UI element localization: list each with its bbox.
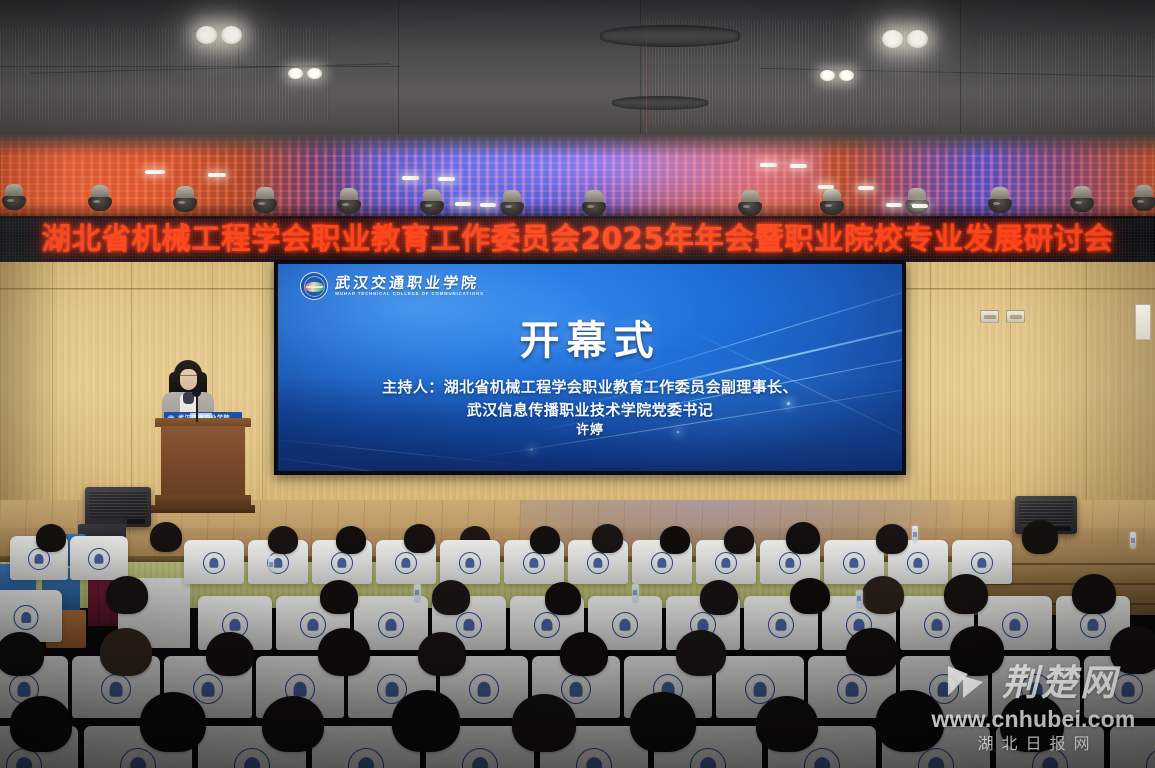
- audience-head: [512, 694, 576, 752]
- audience-head: [268, 526, 298, 554]
- audience-head: [432, 580, 470, 615]
- ceiling-strip-light: [402, 176, 419, 180]
- ceiling-downlight-3: [288, 68, 322, 79]
- audience-head: [724, 526, 754, 554]
- ceiling-strip-light: [480, 203, 496, 207]
- ceiling-ribbed-panel-left: [0, 28, 330, 122]
- college-logo: 武汉交通职业学院 WUHAN TECHNICAL COLLEGE OF COMM…: [300, 272, 484, 300]
- audience-head: [106, 576, 148, 614]
- college-name-cn: 武汉交通职业学院: [334, 276, 484, 292]
- water-bottle: [856, 590, 863, 609]
- wall-outlet: [980, 310, 999, 323]
- audience-head: [0, 632, 44, 676]
- projection-screen: 武汉交通职业学院 WUHAN TECHNICAL COLLEGE OF COMM…: [278, 264, 902, 471]
- ceiling-dome-speaker: [582, 190, 606, 216]
- ceiling-dome-speaker: [1132, 185, 1155, 211]
- projection-screen-frame: 武汉交通职业学院 WUHAN TECHNICAL COLLEGE OF COMM…: [274, 260, 906, 475]
- audience-head: [756, 696, 818, 752]
- audience-head: [676, 630, 726, 676]
- water-bottle: [268, 556, 274, 573]
- ceiling-dome-speaker: [905, 188, 929, 214]
- audience-head: [846, 628, 898, 676]
- ceiling-strip-light: [912, 204, 928, 208]
- ceiling-dome-speaker: [1070, 186, 1094, 212]
- ceiling-dome-speaker: [253, 187, 277, 213]
- audience-head: [950, 626, 1004, 676]
- ceiling-dome-speaker: [738, 190, 762, 216]
- ceiling-dome-speaker: [988, 187, 1012, 213]
- ceiling-seam-a: [0, 66, 400, 67]
- audience-head: [1022, 520, 1058, 554]
- slide-subtitle: 主持人：湖北省机械工程学会职业教育工作委员会副理事长、 武汉信息传播职业技术学院…: [278, 376, 902, 442]
- ceiling-ribbed-panel-right: [980, 34, 1155, 126]
- slide-subtitle-line-2: 武汉信息传播职业技术学院党委书记: [278, 399, 902, 422]
- conference-hall-photo: 湖北省机械工程学会职业教育工作委员会2025年年会暨职业院校专业发展研讨会: [0, 0, 1155, 768]
- audience-head: [392, 690, 460, 752]
- ceiling-strip-light: [886, 203, 902, 207]
- ceiling-strip-light: [438, 177, 455, 181]
- ceiling-dome-speaker: [420, 189, 444, 215]
- ceiling-downlight-2: [882, 30, 928, 48]
- water-bottle: [1130, 532, 1136, 549]
- audience-head: [630, 692, 696, 752]
- audience-head: [10, 696, 72, 752]
- audience-head: [660, 526, 690, 554]
- audience-head: [592, 524, 623, 553]
- ceiling-strip-light: [208, 173, 226, 177]
- water-bottle: [912, 526, 918, 543]
- audience-head: [530, 526, 560, 554]
- ceiling-vent-2: [612, 96, 708, 110]
- ceiling-dome-speaker: [173, 186, 197, 212]
- audience-head: [876, 524, 908, 554]
- audience-head: [944, 574, 988, 614]
- slide-subtitle-line-1: 主持人：湖北省机械工程学会职业教育工作委员会副理事长、: [278, 376, 902, 399]
- speaking-podium: 武汉交通职业学院: [155, 418, 251, 522]
- audience-head: [560, 632, 608, 676]
- audience-chair: [440, 540, 500, 584]
- stage-monitor-speaker: [85, 487, 151, 527]
- audience-head: [545, 582, 581, 615]
- ceiling-strip-light: [455, 202, 471, 206]
- ceiling-wire: [646, 0, 647, 150]
- water-bottle: [632, 584, 639, 603]
- wall-outlet: [1006, 310, 1025, 323]
- ceiling-dome-speaker: [500, 190, 524, 216]
- ceiling-dome-speaker: [337, 188, 361, 214]
- ceiling-strip-light: [818, 185, 834, 189]
- audience-head: [876, 690, 944, 752]
- audience-head: [36, 524, 66, 552]
- audience-head: [262, 696, 324, 752]
- audience-head: [786, 522, 820, 554]
- college-name-en: WUHAN TECHNICAL COLLEGE OF COMMUNICATION…: [335, 292, 484, 296]
- glasses-icon: [180, 375, 197, 379]
- led-banner: 湖北省机械工程学会职业教育工作委员会2025年年会暨职业院校专业发展研讨会: [0, 216, 1155, 264]
- audience-head: [700, 580, 738, 615]
- audience-head: [790, 578, 830, 614]
- slide-title: 开幕式: [278, 308, 902, 366]
- audience-head: [318, 628, 370, 676]
- audience-chair: [70, 536, 128, 580]
- college-seal-icon: [300, 272, 328, 300]
- ceiling-seam-g: [640, 0, 641, 150]
- audience-chair: [184, 540, 244, 584]
- audience-area: [0, 528, 1155, 768]
- audience-head: [140, 692, 206, 752]
- microphone-icon: [192, 388, 201, 397]
- ceiling-strip-light: [858, 186, 874, 190]
- audience-head: [1000, 694, 1064, 752]
- ceiling: [0, 0, 1155, 150]
- ceiling-downlight-1: [196, 26, 242, 44]
- audience-head: [206, 632, 254, 676]
- ceiling-strip-light: [790, 164, 807, 168]
- audience-head: [418, 632, 466, 676]
- audience-head: [100, 628, 152, 676]
- ceiling-downlight-4: [820, 70, 854, 81]
- ceiling-dome-speaker: [820, 189, 844, 215]
- audience-head: [862, 576, 904, 614]
- ceiling-dome-speaker: [2, 184, 26, 210]
- audience-head: [404, 524, 435, 553]
- audience-head: [1072, 574, 1116, 614]
- ceiling-seam-f: [960, 0, 961, 150]
- ceiling-dome-speaker: [88, 185, 112, 211]
- ceiling-seam-d: [398, 0, 399, 150]
- ceiling-strip-light: [760, 163, 777, 167]
- water-bottle: [414, 584, 421, 603]
- ceiling-strip-light: [145, 170, 165, 174]
- audience-head: [1110, 626, 1155, 674]
- slide-subtitle-line-3: 许婷: [278, 421, 902, 442]
- audience-head: [320, 580, 358, 614]
- ceiling-vent: [600, 25, 740, 47]
- wall-sign: [1135, 304, 1151, 340]
- audience-chair: [1110, 726, 1155, 768]
- audience-head: [336, 526, 366, 554]
- audience-head: [150, 522, 182, 552]
